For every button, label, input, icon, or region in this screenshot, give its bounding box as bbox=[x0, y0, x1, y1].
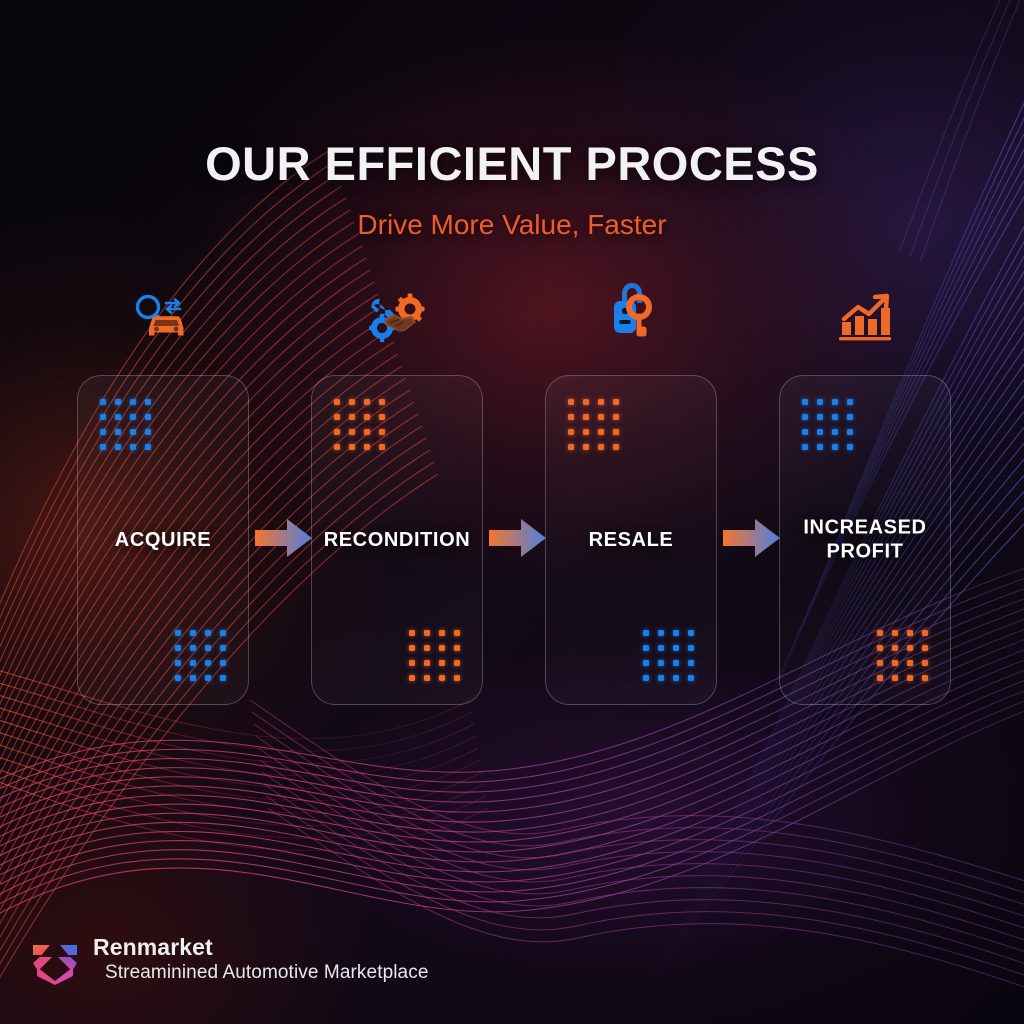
process-step-resale[interactable]: RESALE bbox=[545, 375, 717, 705]
dot-grid-bottom-right bbox=[175, 630, 226, 681]
poster-canvas: OUR EFFICIENT PROCESS Drive More Value, … bbox=[0, 0, 1024, 1024]
process-step-label: RECONDITION bbox=[312, 528, 482, 552]
page-subtitle: Drive More Value, Faster bbox=[0, 209, 1024, 241]
dot-grid-top-left bbox=[334, 399, 385, 450]
process-flow: ACQUIRE bbox=[62, 285, 962, 715]
wrench-gears-handshake-icon bbox=[311, 280, 483, 342]
arrow-recondition-to-resale bbox=[489, 517, 547, 559]
process-step-acquire[interactable]: ACQUIRE bbox=[77, 375, 249, 705]
process-step-label: ACQUIRE bbox=[78, 528, 248, 552]
brand-name: Renmarket bbox=[93, 935, 429, 960]
process-step-label: RESALE bbox=[546, 528, 716, 552]
arrow-acquire-to-recondition bbox=[255, 517, 313, 559]
arrow-resale-to-profit bbox=[723, 517, 781, 559]
process-step-label: INCREASED PROFIT bbox=[780, 516, 950, 565]
car-keys-icon bbox=[545, 277, 717, 339]
dot-grid-top-left bbox=[802, 399, 853, 450]
dot-grid-bottom-right bbox=[877, 630, 928, 681]
process-step-increased-profit[interactable]: INCREASED PROFIT bbox=[779, 375, 951, 705]
renmarket-butterfly-logo bbox=[30, 937, 80, 985]
dot-grid-bottom-right bbox=[409, 630, 460, 681]
growth-chart-icon bbox=[779, 280, 951, 342]
process-step-recondition[interactable]: RECONDITION bbox=[311, 375, 483, 705]
header-block: OUR EFFICIENT PROCESS Drive More Value, … bbox=[0, 136, 1024, 241]
page-title: OUR EFFICIENT PROCESS bbox=[0, 136, 1024, 191]
dot-grid-top-left bbox=[568, 399, 619, 450]
dot-grid-bottom-right bbox=[643, 630, 694, 681]
dot-grid-top-left bbox=[100, 399, 151, 450]
brand-footer: Renmarket Streaminined Automotive Market… bbox=[30, 935, 429, 986]
brand-tagline: Streaminined Automotive Marketplace bbox=[105, 960, 429, 986]
car-search-icon bbox=[77, 280, 249, 342]
